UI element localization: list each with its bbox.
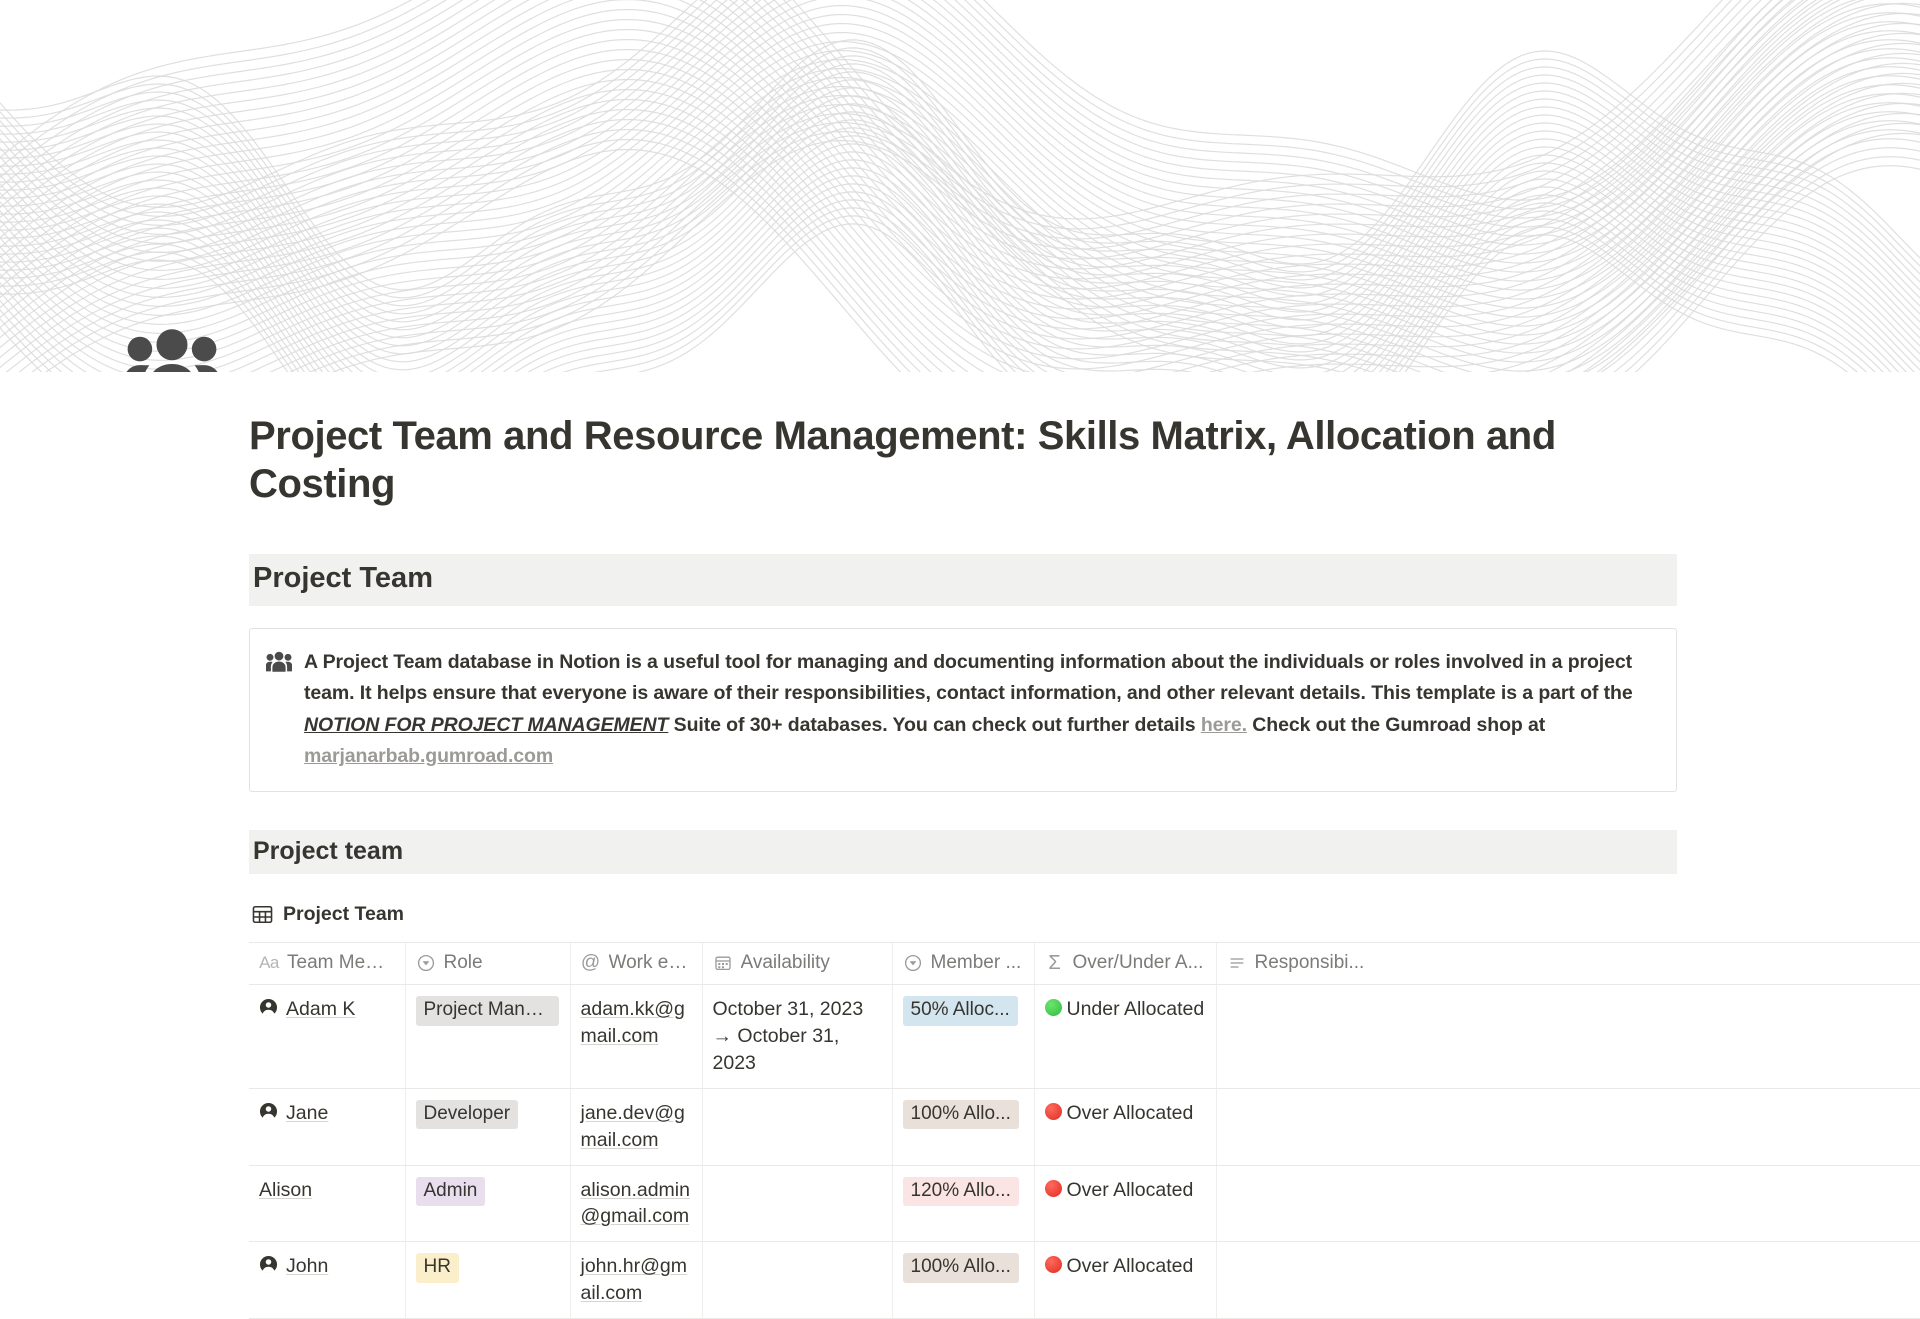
allocation-status: Over Allocated xyxy=(1045,1253,1205,1280)
column-header-label: Responsibi... xyxy=(1255,952,1365,974)
cell-work-email[interactable]: adam.kk@gmail.com xyxy=(570,985,702,1089)
callout-text-part3: Check out the Gumroad shop at xyxy=(1247,714,1545,736)
table-row[interactable]: Adam KProject Mana...adam.kk@gmail.comOc… xyxy=(249,985,1920,1089)
column-header-label: Availability xyxy=(741,952,830,974)
select-circle-chevron-icon xyxy=(903,953,923,973)
cell-team-member[interactable]: John xyxy=(249,1242,405,1319)
callout-text: A Project Team database in Notion is a u… xyxy=(304,647,1658,773)
column-header-team-member[interactable]: Aa Team Memb... xyxy=(249,943,405,985)
cover-wave-pattern xyxy=(0,0,1920,372)
allocation-status-label: Over Allocated xyxy=(1067,1177,1194,1204)
cell-role[interactable]: Project Mana... xyxy=(405,985,570,1089)
role-tag: Developer xyxy=(416,1100,519,1130)
cell-work-email[interactable]: jane.dev@gmail.com xyxy=(570,1088,702,1165)
allocation-status-label: Over Allocated xyxy=(1067,1253,1194,1280)
column-header-work-email[interactable]: @ Work email xyxy=(570,943,702,985)
here-link[interactable]: here. xyxy=(1201,714,1247,736)
work-email-value[interactable]: john.hr@gmail.com xyxy=(581,1255,688,1304)
cell-member-allocation[interactable]: 100% Allo... xyxy=(892,1242,1034,1319)
cell-team-member[interactable]: Jane xyxy=(249,1088,405,1165)
allocation-status-label: Under Allocated xyxy=(1067,996,1205,1023)
work-email-value[interactable]: adam.kk@gmail.com xyxy=(581,998,685,1047)
allocation-status: Over Allocated xyxy=(1045,1100,1205,1127)
person-avatar-icon xyxy=(259,1102,278,1121)
allocation-status: Under Allocated xyxy=(1045,996,1205,1023)
column-header-availability[interactable]: Availability xyxy=(702,943,892,985)
text-aa-icon: Aa xyxy=(259,953,279,973)
table-row[interactable]: JaneDeveloperjane.dev@gmail.com100% Allo… xyxy=(249,1088,1920,1165)
cell-over-under-allocation: Under Allocated xyxy=(1034,985,1216,1089)
page-content: Project Team and Resource Management: Sk… xyxy=(0,412,1920,1319)
column-header-label: Over/Under A... xyxy=(1073,952,1204,974)
cell-responsibilities[interactable] xyxy=(1216,1242,1920,1319)
sigma-formula-icon: Σ xyxy=(1045,953,1065,973)
cell-responsibilities[interactable] xyxy=(1216,985,1920,1089)
column-header-label: Role xyxy=(444,952,483,974)
green-circle-icon xyxy=(1045,999,1062,1016)
red-circle-icon xyxy=(1045,1103,1062,1120)
at-sign-icon: @ xyxy=(581,953,601,973)
table-grid-icon xyxy=(251,904,273,926)
cell-member-allocation[interactable]: 50% Alloc... xyxy=(892,985,1034,1089)
cell-over-under-allocation: Over Allocated xyxy=(1034,1242,1216,1319)
person-avatar-icon xyxy=(259,1255,278,1274)
notion-for-project-management-link[interactable]: NOTION FOR PROJECT MANAGEMENT xyxy=(304,714,668,736)
select-circle-chevron-icon xyxy=(416,953,436,973)
allocation-status-label: Over Allocated xyxy=(1067,1100,1194,1127)
cell-over-under-allocation: Over Allocated xyxy=(1034,1088,1216,1165)
role-tag: Project Mana... xyxy=(416,996,559,1026)
cell-responsibilities[interactable] xyxy=(1216,1088,1920,1165)
cell-availability[interactable] xyxy=(702,1165,892,1242)
table-header-row: Aa Team Memb... xyxy=(249,943,1920,985)
database-title-row[interactable]: Project Team xyxy=(249,900,1677,930)
cell-role[interactable]: Developer xyxy=(405,1088,570,1165)
member-allocation-tag: 100% Allo... xyxy=(903,1253,1019,1283)
cell-availability[interactable] xyxy=(702,1088,892,1165)
text-lines-icon xyxy=(1227,953,1247,973)
table-row[interactable]: JohnHRjohn.hr@gmail.com100% Allo...Over … xyxy=(249,1242,1920,1319)
people-group-icon xyxy=(266,649,292,675)
cell-availability[interactable] xyxy=(702,1242,892,1319)
section-heading-project-team: Project Team xyxy=(249,554,1677,606)
cell-team-member[interactable]: Alison xyxy=(249,1165,405,1242)
callout-text-part2: Suite of 30+ databases. You can check ou… xyxy=(668,714,1201,736)
people-group-icon xyxy=(126,178,218,372)
team-member-name: Adam K xyxy=(286,996,355,1023)
member-allocation-tag: 50% Alloc... xyxy=(903,996,1018,1026)
team-member-name: Jane xyxy=(286,1100,328,1127)
column-header-label: Team Memb... xyxy=(287,952,394,974)
cell-availability[interactable]: October 31, 2023 → October 31, 2023 xyxy=(702,985,892,1089)
member-allocation-tag: 120% Allo... xyxy=(903,1177,1019,1207)
role-tag: HR xyxy=(416,1253,459,1283)
section-heading-project-team-sub: Project team xyxy=(249,830,1677,874)
cell-member-allocation[interactable]: 100% Allo... xyxy=(892,1088,1034,1165)
work-email-value[interactable]: jane.dev@gmail.com xyxy=(581,1102,685,1151)
callout-block: A Project Team database in Notion is a u… xyxy=(249,628,1677,792)
gumroad-shop-link[interactable]: marjanarbab.gumroad.com xyxy=(304,745,553,767)
role-tag: Admin xyxy=(416,1177,486,1207)
column-header-role[interactable]: Role xyxy=(405,943,570,985)
database-table-wrapper: Aa Team Memb... xyxy=(249,942,1920,1319)
team-member-name: Alison xyxy=(259,1177,312,1204)
database-title: Project Team xyxy=(283,903,404,926)
person-avatar-icon xyxy=(259,998,278,1017)
work-email-value[interactable]: alison.admin@gmail.com xyxy=(581,1179,690,1228)
cell-role[interactable]: HR xyxy=(405,1242,570,1319)
cell-over-under-allocation: Over Allocated xyxy=(1034,1165,1216,1242)
column-header-label: Member ... xyxy=(931,952,1022,974)
availability-value: October 31, 2023 → October 31, 2023 xyxy=(713,998,864,1074)
column-header-member-allocation[interactable]: Member ... xyxy=(892,943,1034,985)
cell-work-email[interactable]: john.hr@gmail.com xyxy=(570,1242,702,1319)
cell-responsibilities[interactable] xyxy=(1216,1165,1920,1242)
column-header-responsibilities[interactable]: Responsibi... xyxy=(1216,943,1920,985)
cell-role[interactable]: Admin xyxy=(405,1165,570,1242)
member-allocation-tag: 100% Allo... xyxy=(903,1100,1019,1130)
team-member-name: John xyxy=(286,1253,328,1280)
column-header-label: Work email xyxy=(609,952,691,974)
red-circle-icon xyxy=(1045,1180,1062,1197)
callout-text-part1: A Project Team database in Notion is a u… xyxy=(304,651,1633,705)
cell-team-member[interactable]: Adam K xyxy=(249,985,405,1089)
calendar-icon xyxy=(713,953,733,973)
column-header-over-under-allocation[interactable]: Σ Over/Under A... xyxy=(1034,943,1216,985)
allocation-status: Over Allocated xyxy=(1045,1177,1205,1204)
page-title: Project Team and Resource Management: Sk… xyxy=(249,412,1677,508)
table-body: Adam KProject Mana...adam.kk@gmail.comOc… xyxy=(249,985,1920,1319)
cell-member-allocation[interactable]: 120% Allo... xyxy=(892,1165,1034,1242)
cover-banner xyxy=(0,0,1920,372)
red-circle-icon xyxy=(1045,1256,1062,1273)
table-row[interactable]: AlisonAdminalison.admin@gmail.com120% Al… xyxy=(249,1165,1920,1242)
project-team-table: Aa Team Memb... xyxy=(249,943,1920,1319)
cell-work-email[interactable]: alison.admin@gmail.com xyxy=(570,1165,702,1242)
page-icon xyxy=(126,318,218,372)
